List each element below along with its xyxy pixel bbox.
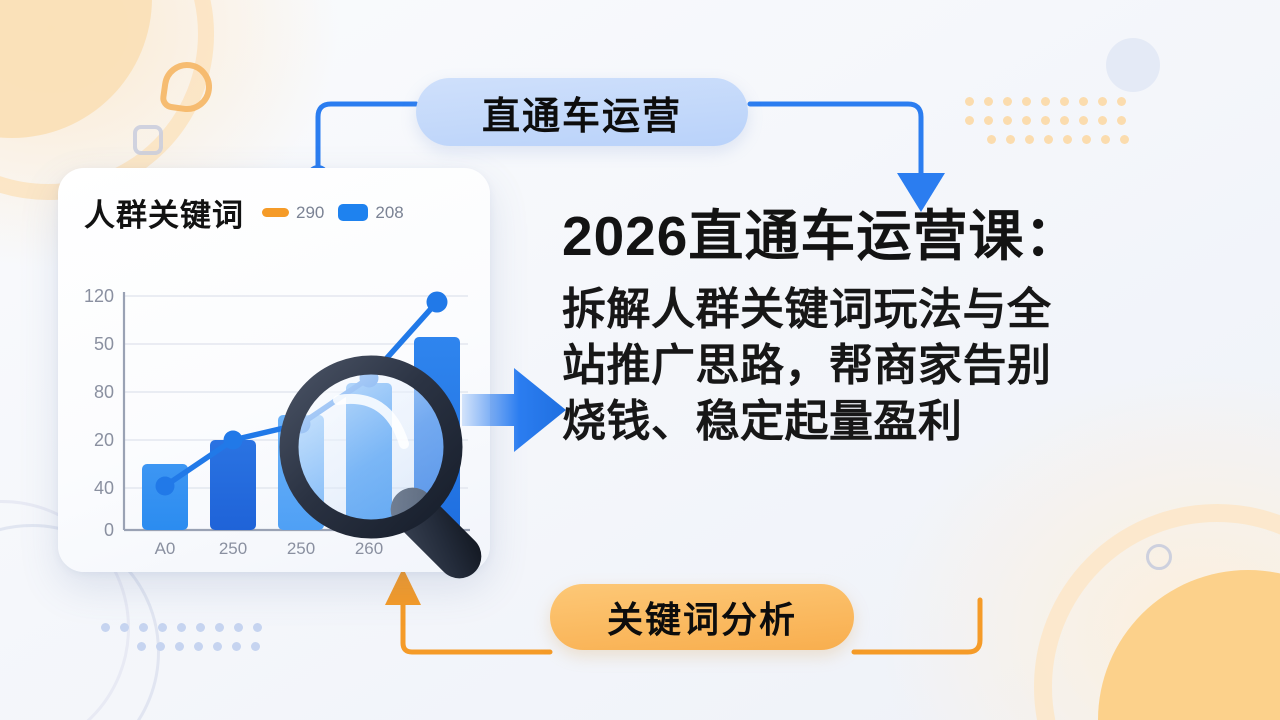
chart-card-header: 人群关键词 290 208 (58, 168, 490, 235)
legend-bar-swatch (338, 204, 368, 221)
y-tick: 40 (94, 478, 114, 498)
legend-line-swatch (262, 208, 289, 217)
x-tick: 250 (219, 539, 247, 558)
poster-subline-line-3: 烧钱、稳定起量盈利 (562, 394, 1238, 450)
line-point (427, 292, 448, 313)
legend-line-label: 290 (296, 203, 324, 223)
line-point (224, 431, 243, 450)
x-tick: A0 (155, 539, 176, 558)
chart-y-ticks: 120 50 80 20 40 0 (84, 286, 114, 540)
legend-item-line: 290 (262, 203, 324, 223)
legend-item-bar: 208 (338, 203, 403, 223)
line-point (156, 477, 175, 496)
badge-top[interactable]: 直通车运营 (416, 78, 748, 146)
poster-text-block: 2026直通车运营课： 拆解人群关键词玩法与全 站推广思路，帮商家告别 烧钱、稳… (562, 206, 1238, 451)
y-tick: 20 (94, 430, 114, 450)
connector-blue-right (750, 104, 921, 176)
chart-title: 人群关键词 (84, 190, 244, 235)
connector-orange-right (854, 600, 980, 652)
poster-subline-line-2: 站推广思路，帮商家告别 (562, 338, 1238, 394)
connector-blue-left (318, 104, 416, 176)
badge-bottom[interactable]: 关键词分析 (550, 584, 854, 650)
chart-legend: 290 208 (262, 203, 404, 223)
y-tick: 120 (84, 286, 114, 306)
legend-bar-label: 208 (375, 203, 403, 223)
y-tick: 50 (94, 334, 114, 354)
y-tick: 0 (104, 520, 114, 540)
poster-subline-line-1: 拆解人群关键词玩法与全 (562, 282, 1238, 338)
poster-canvas: 人群关键词 290 208 (0, 0, 1280, 720)
arrow-right-icon (462, 358, 570, 462)
connector-orange-left (403, 604, 550, 652)
y-tick: 80 (94, 382, 114, 402)
poster-subline: 拆解人群关键词玩法与全 站推广思路，帮商家告别 烧钱、稳定起量盈利 (562, 282, 1238, 451)
poster-headline: 2026直通车运营课： (562, 206, 1238, 268)
